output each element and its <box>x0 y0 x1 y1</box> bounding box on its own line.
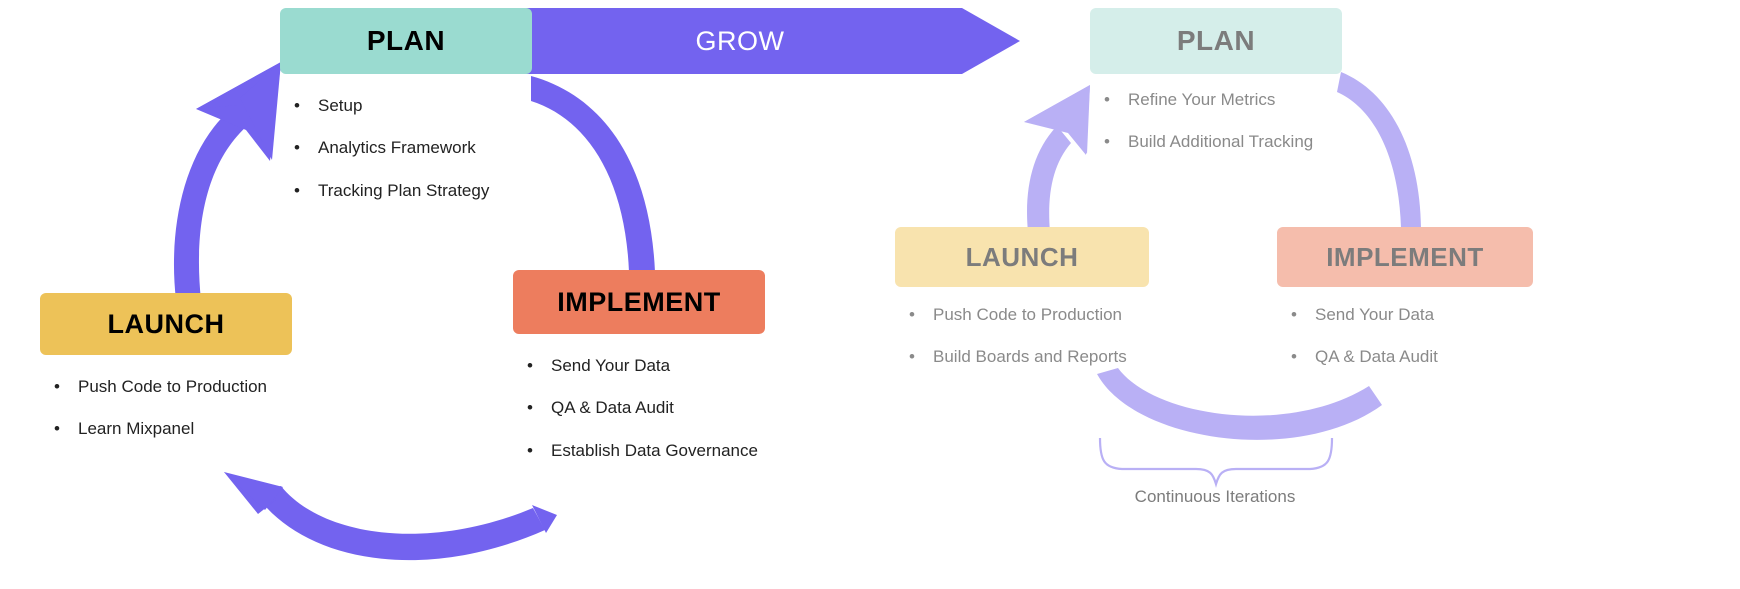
list-item-label: Setup <box>318 96 362 115</box>
phase-implement-next[interactable]: IMPLEMENT • Send Your Data • QA & Data A… <box>1277 227 1533 368</box>
bullet-icon: • <box>294 181 300 201</box>
continuous-iterations-label: Continuous Iterations <box>1085 487 1345 507</box>
arrow-plan-to-implement-faded <box>1337 72 1421 228</box>
list-item-label: Push Code to Production <box>933 305 1122 324</box>
list-item: • Establish Data Governance <box>513 441 765 461</box>
arrow-implement-to-launch-faded <box>1097 368 1382 440</box>
diagram-canvas: GROW PLAN • Setup • Analytics Framework … <box>0 0 1740 589</box>
phase-plan-next-list: • Refine Your Metrics • Build Additional… <box>1090 90 1342 153</box>
phase-plan-next-title: PLAN <box>1177 25 1255 57</box>
continuous-iterations-brace <box>1100 438 1332 484</box>
grow-label: GROW <box>520 8 960 74</box>
list-item-label: Send Your Data <box>551 356 670 375</box>
phase-launch-next[interactable]: LAUNCH • Push Code to Production • Build… <box>895 227 1149 368</box>
list-item: • Push Code to Production <box>895 305 1149 325</box>
list-item: • Push Code to Production <box>40 377 292 397</box>
list-item: • QA & Data Audit <box>513 398 765 418</box>
list-item: • Build Additional Tracking <box>1090 132 1342 152</box>
list-item-label: Tracking Plan Strategy <box>318 181 489 200</box>
bullet-icon: • <box>54 419 60 439</box>
bullet-icon: • <box>54 377 60 397</box>
phase-plan-next-header: PLAN <box>1090 8 1342 74</box>
list-item-label: QA & Data Audit <box>1315 347 1438 366</box>
list-item: • Build Boards and Reports <box>895 347 1149 367</box>
phase-implement-next-header: IMPLEMENT <box>1277 227 1533 287</box>
list-item-label: Establish Data Governance <box>551 441 758 460</box>
bullet-icon: • <box>527 356 533 376</box>
bullet-icon: • <box>909 347 915 367</box>
list-item: • Learn Mixpanel <box>40 419 292 439</box>
phase-implement-next-title: IMPLEMENT <box>1326 242 1484 273</box>
arrow-launch-to-plan-faded <box>1024 85 1090 232</box>
grow-banner: GROW <box>520 8 1020 74</box>
list-item-label: Send Your Data <box>1315 305 1434 324</box>
list-item: • Analytics Framework <box>280 138 532 158</box>
phase-plan-active-header: PLAN <box>280 8 532 74</box>
list-item-label: QA & Data Audit <box>551 398 674 417</box>
phase-implement-next-list: • Send Your Data • QA & Data Audit <box>1277 305 1533 368</box>
bullet-icon: • <box>1291 305 1297 325</box>
list-item-label: Build Boards and Reports <box>933 347 1127 366</box>
list-item-label: Refine Your Metrics <box>1128 90 1275 109</box>
phase-launch-active-list: • Push Code to Production • Learn Mixpan… <box>40 377 292 440</box>
bullet-icon: • <box>527 441 533 461</box>
list-item: • Send Your Data <box>1277 305 1533 325</box>
arrow-implement-to-launch-active <box>224 472 557 560</box>
list-item-label: Push Code to Production <box>78 377 267 396</box>
list-item: • QA & Data Audit <box>1277 347 1533 367</box>
bullet-icon: • <box>294 96 300 116</box>
bullet-icon: • <box>1291 347 1297 367</box>
bullet-icon: • <box>1104 90 1110 110</box>
bullet-icon: • <box>527 398 533 418</box>
list-item: • Send Your Data <box>513 356 765 376</box>
phase-launch-next-header: LAUNCH <box>895 227 1149 287</box>
phase-launch-active-title: LAUNCH <box>108 309 225 340</box>
bullet-icon: • <box>909 305 915 325</box>
list-item: • Setup <box>280 96 532 116</box>
list-item: • Refine Your Metrics <box>1090 90 1342 110</box>
phase-implement-active[interactable]: IMPLEMENT • Send Your Data • QA & Data A… <box>513 270 765 461</box>
phase-launch-next-list: • Push Code to Production • Build Boards… <box>895 305 1149 368</box>
phase-launch-active[interactable]: LAUNCH • Push Code to Production • Learn… <box>40 293 292 440</box>
list-item-label: Learn Mixpanel <box>78 419 194 438</box>
phase-implement-active-list: • Send Your Data • QA & Data Audit • Est… <box>513 356 765 461</box>
phase-launch-active-header: LAUNCH <box>40 293 292 355</box>
phase-implement-active-title: IMPLEMENT <box>557 287 721 318</box>
list-item-label: Analytics Framework <box>318 138 476 157</box>
list-item: • Tracking Plan Strategy <box>280 181 532 201</box>
phase-implement-active-header: IMPLEMENT <box>513 270 765 334</box>
phase-plan-active-list: • Setup • Analytics Framework • Tracking… <box>280 96 532 201</box>
bullet-icon: • <box>294 138 300 158</box>
arrow-launch-to-plan-active <box>174 62 281 300</box>
phase-launch-next-title: LAUNCH <box>966 242 1079 273</box>
phase-plan-active-title: PLAN <box>367 25 445 57</box>
arrow-plan-to-implement-active <box>531 76 655 272</box>
phase-plan-active[interactable]: PLAN • Setup • Analytics Framework • Tra… <box>280 8 532 201</box>
phase-plan-next[interactable]: PLAN • Refine Your Metrics • Build Addit… <box>1090 8 1342 153</box>
list-item-label: Build Additional Tracking <box>1128 132 1313 151</box>
bullet-icon: • <box>1104 132 1110 152</box>
